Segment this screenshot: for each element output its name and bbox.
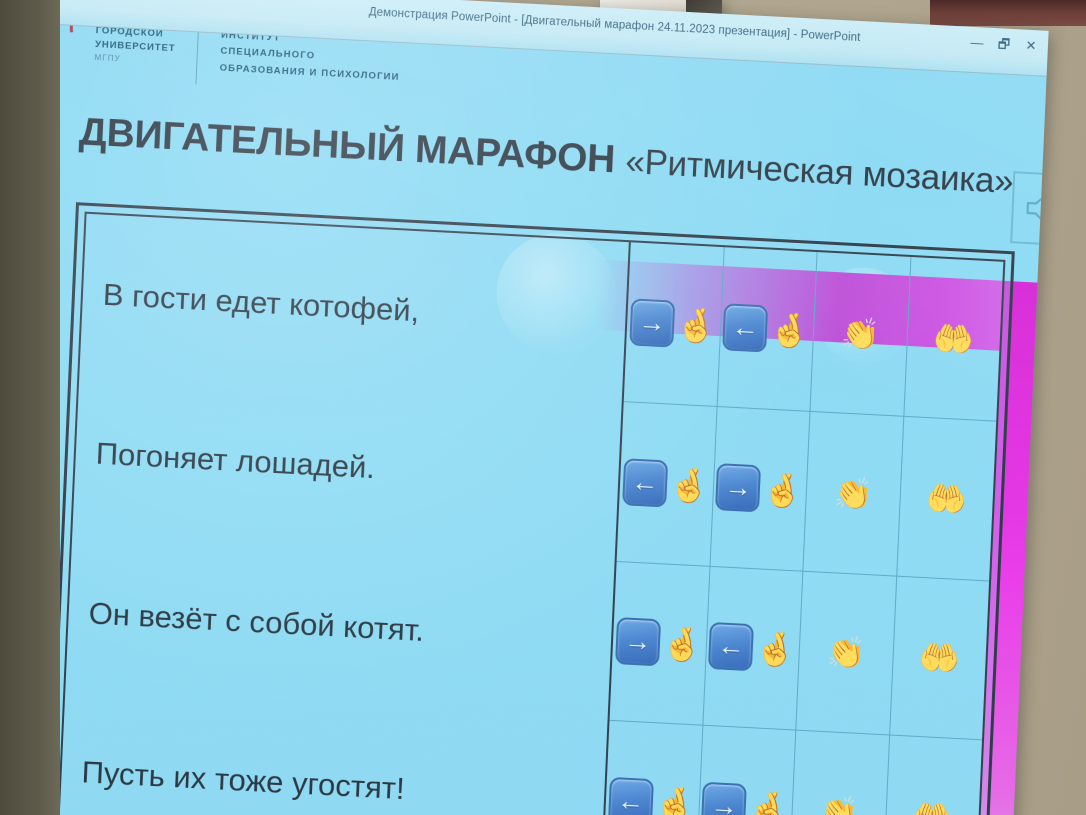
gesture-cell: 👏 <box>796 571 896 734</box>
wall-upper-dark-strip <box>930 0 1086 26</box>
open-hands-icon: 🤲 <box>918 640 961 675</box>
arrow-left-icon: ← <box>708 622 754 671</box>
crossed-fingers-hand-icon: 🤞 <box>769 313 812 348</box>
verse-line-2: Погоняет лошадей. <box>72 373 621 561</box>
verse-line-3: Он везёт с собой котят. <box>65 532 614 720</box>
arrow-left-icon: ← <box>608 777 654 815</box>
slide-title-quoted: «Ритмическая мозаика» <box>625 142 1015 201</box>
arrow-glyph: ← <box>617 787 645 815</box>
projection-screen: Демонстрация PowerPoint - [Двигательный … <box>1 0 1049 815</box>
arrow-glyph: ← <box>717 633 745 661</box>
arrow-right-icon: → <box>701 782 747 815</box>
gesture-cell: ←🤞 <box>617 402 717 565</box>
window-title-text: Демонстрация PowerPoint - [Двигательный … <box>369 6 861 44</box>
arrow-right-icon: → <box>629 298 675 347</box>
crossed-fingers-hand-icon: 🤞 <box>661 627 704 662</box>
minimize-icon[interactable]: — <box>970 36 985 50</box>
open-hands-icon: 🤲 <box>932 321 975 356</box>
wall-left-dark <box>0 0 60 815</box>
gesture-cell: 👏 <box>789 731 889 815</box>
clapping-hands-icon: 👏 <box>840 317 880 350</box>
arrow-right-icon: → <box>615 617 661 666</box>
clapping-hands-icon: 👏 <box>826 636 866 669</box>
rhythm-table: В гости едет котофей, Погоняет лошадей. … <box>47 202 1015 815</box>
arrow-glyph: → <box>724 473 752 501</box>
gesture-row: →🤞←🤞👏🤲 <box>624 242 1004 421</box>
gesture-column: →🤞←🤞👏🤲←🤞→🤞👏🤲→🤞←🤞👏🤲←🤞→🤞👏🤲 <box>602 242 1003 815</box>
gesture-cell: 🤲 <box>883 736 982 815</box>
gesture-cell: ←🤞 <box>717 247 817 410</box>
crossed-fingers-hand-icon: 🤞 <box>761 472 804 507</box>
arrow-glyph: ← <box>731 314 759 342</box>
arrow-glyph: → <box>710 792 738 815</box>
gesture-cell: 👏 <box>811 252 911 415</box>
crossed-fingers-hand-icon: 🤞 <box>747 791 790 815</box>
arrow-left-icon: ← <box>722 303 768 352</box>
gesture-row: →🤞←🤞👏🤲 <box>610 561 990 740</box>
arrow-left-icon: ← <box>622 458 668 507</box>
crossed-fingers-hand-icon: 🤞 <box>754 632 797 667</box>
room-scene: Демонстрация PowerPoint - [Двигательный … <box>0 0 1086 815</box>
page-title: ДВИГАТЕЛЬНЫЙ МАРАФОН «Ритмическая мозаик… <box>78 110 1014 203</box>
gesture-cell: 🤲 <box>890 576 989 739</box>
arrow-glyph: → <box>624 628 652 656</box>
crossed-fingers-hand-icon: 🤞 <box>675 308 718 343</box>
arrow-right-icon: → <box>715 463 761 512</box>
gesture-cell: 👏 <box>803 412 903 575</box>
speaker-icon <box>1023 190 1048 228</box>
verse-column: В гости едет котофей, Погоняет лошадей. … <box>58 214 631 815</box>
crossed-fingers-hand-icon: 🤞 <box>654 786 697 815</box>
gesture-cell: ←🤞 <box>703 566 803 729</box>
gesture-cell: 🤲 <box>897 417 996 580</box>
open-hands-icon: 🤲 <box>911 800 954 815</box>
gesture-row: ←🤞→🤞👏🤲 <box>617 402 997 581</box>
verse-line-1: В гости едет котофей, <box>79 214 628 402</box>
open-hands-icon: 🤲 <box>925 481 968 516</box>
gesture-cell: ←🤞 <box>602 721 702 815</box>
sound-icon-box[interactable] <box>1011 171 1049 246</box>
arrow-glyph: → <box>638 309 666 337</box>
restore-icon[interactable]: 🗗 <box>997 37 1012 51</box>
gesture-cell: →🤞 <box>624 242 724 405</box>
slide-title-main: ДВИГАТЕЛЬНЫЙ МАРАФОН <box>78 110 626 182</box>
window-controls[interactable]: — 🗗 ✕ <box>970 36 1038 53</box>
clapping-hands-icon: 👏 <box>833 477 873 510</box>
close-icon[interactable]: ✕ <box>1024 39 1039 53</box>
arrow-glyph: ← <box>631 468 659 496</box>
clapping-hands-icon: 👏 <box>819 796 859 815</box>
gesture-cell: →🤞 <box>610 561 710 724</box>
gesture-cell: →🤞 <box>696 726 796 815</box>
gesture-cell: →🤞 <box>710 407 810 570</box>
crossed-fingers-hand-icon: 🤞 <box>668 467 711 502</box>
gesture-cell: 🤲 <box>904 257 1003 420</box>
